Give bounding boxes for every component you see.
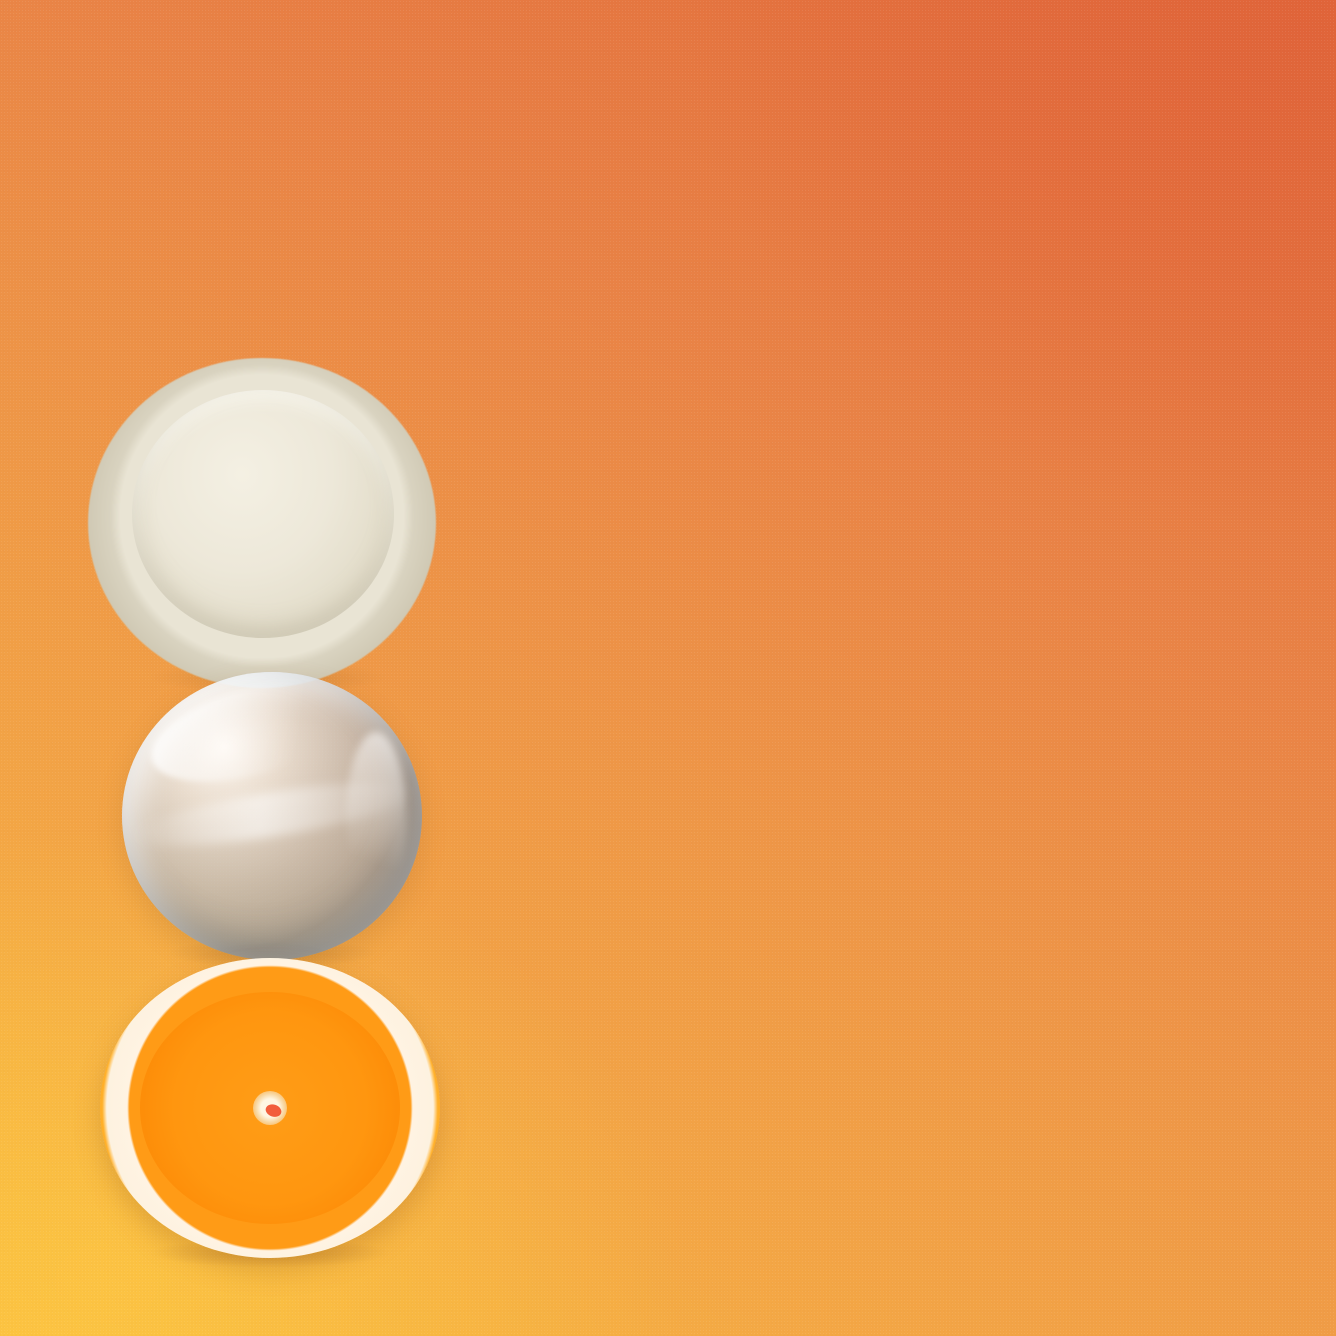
collagen-powder-disc-image bbox=[88, 358, 436, 688]
ingredient-item-2 bbox=[703, 703, 1283, 727]
orange-slice-image bbox=[100, 958, 440, 1258]
hyaluronic-gel-sphere-image bbox=[122, 672, 422, 960]
gel-rim-highlight bbox=[346, 732, 406, 902]
powder-face bbox=[132, 390, 394, 638]
ingredient-item-3 bbox=[703, 968, 1268, 992]
orange-flesh bbox=[140, 992, 400, 1224]
ingredient-item-1 bbox=[703, 388, 1273, 412]
product-visual-stack bbox=[0, 0, 520, 1336]
